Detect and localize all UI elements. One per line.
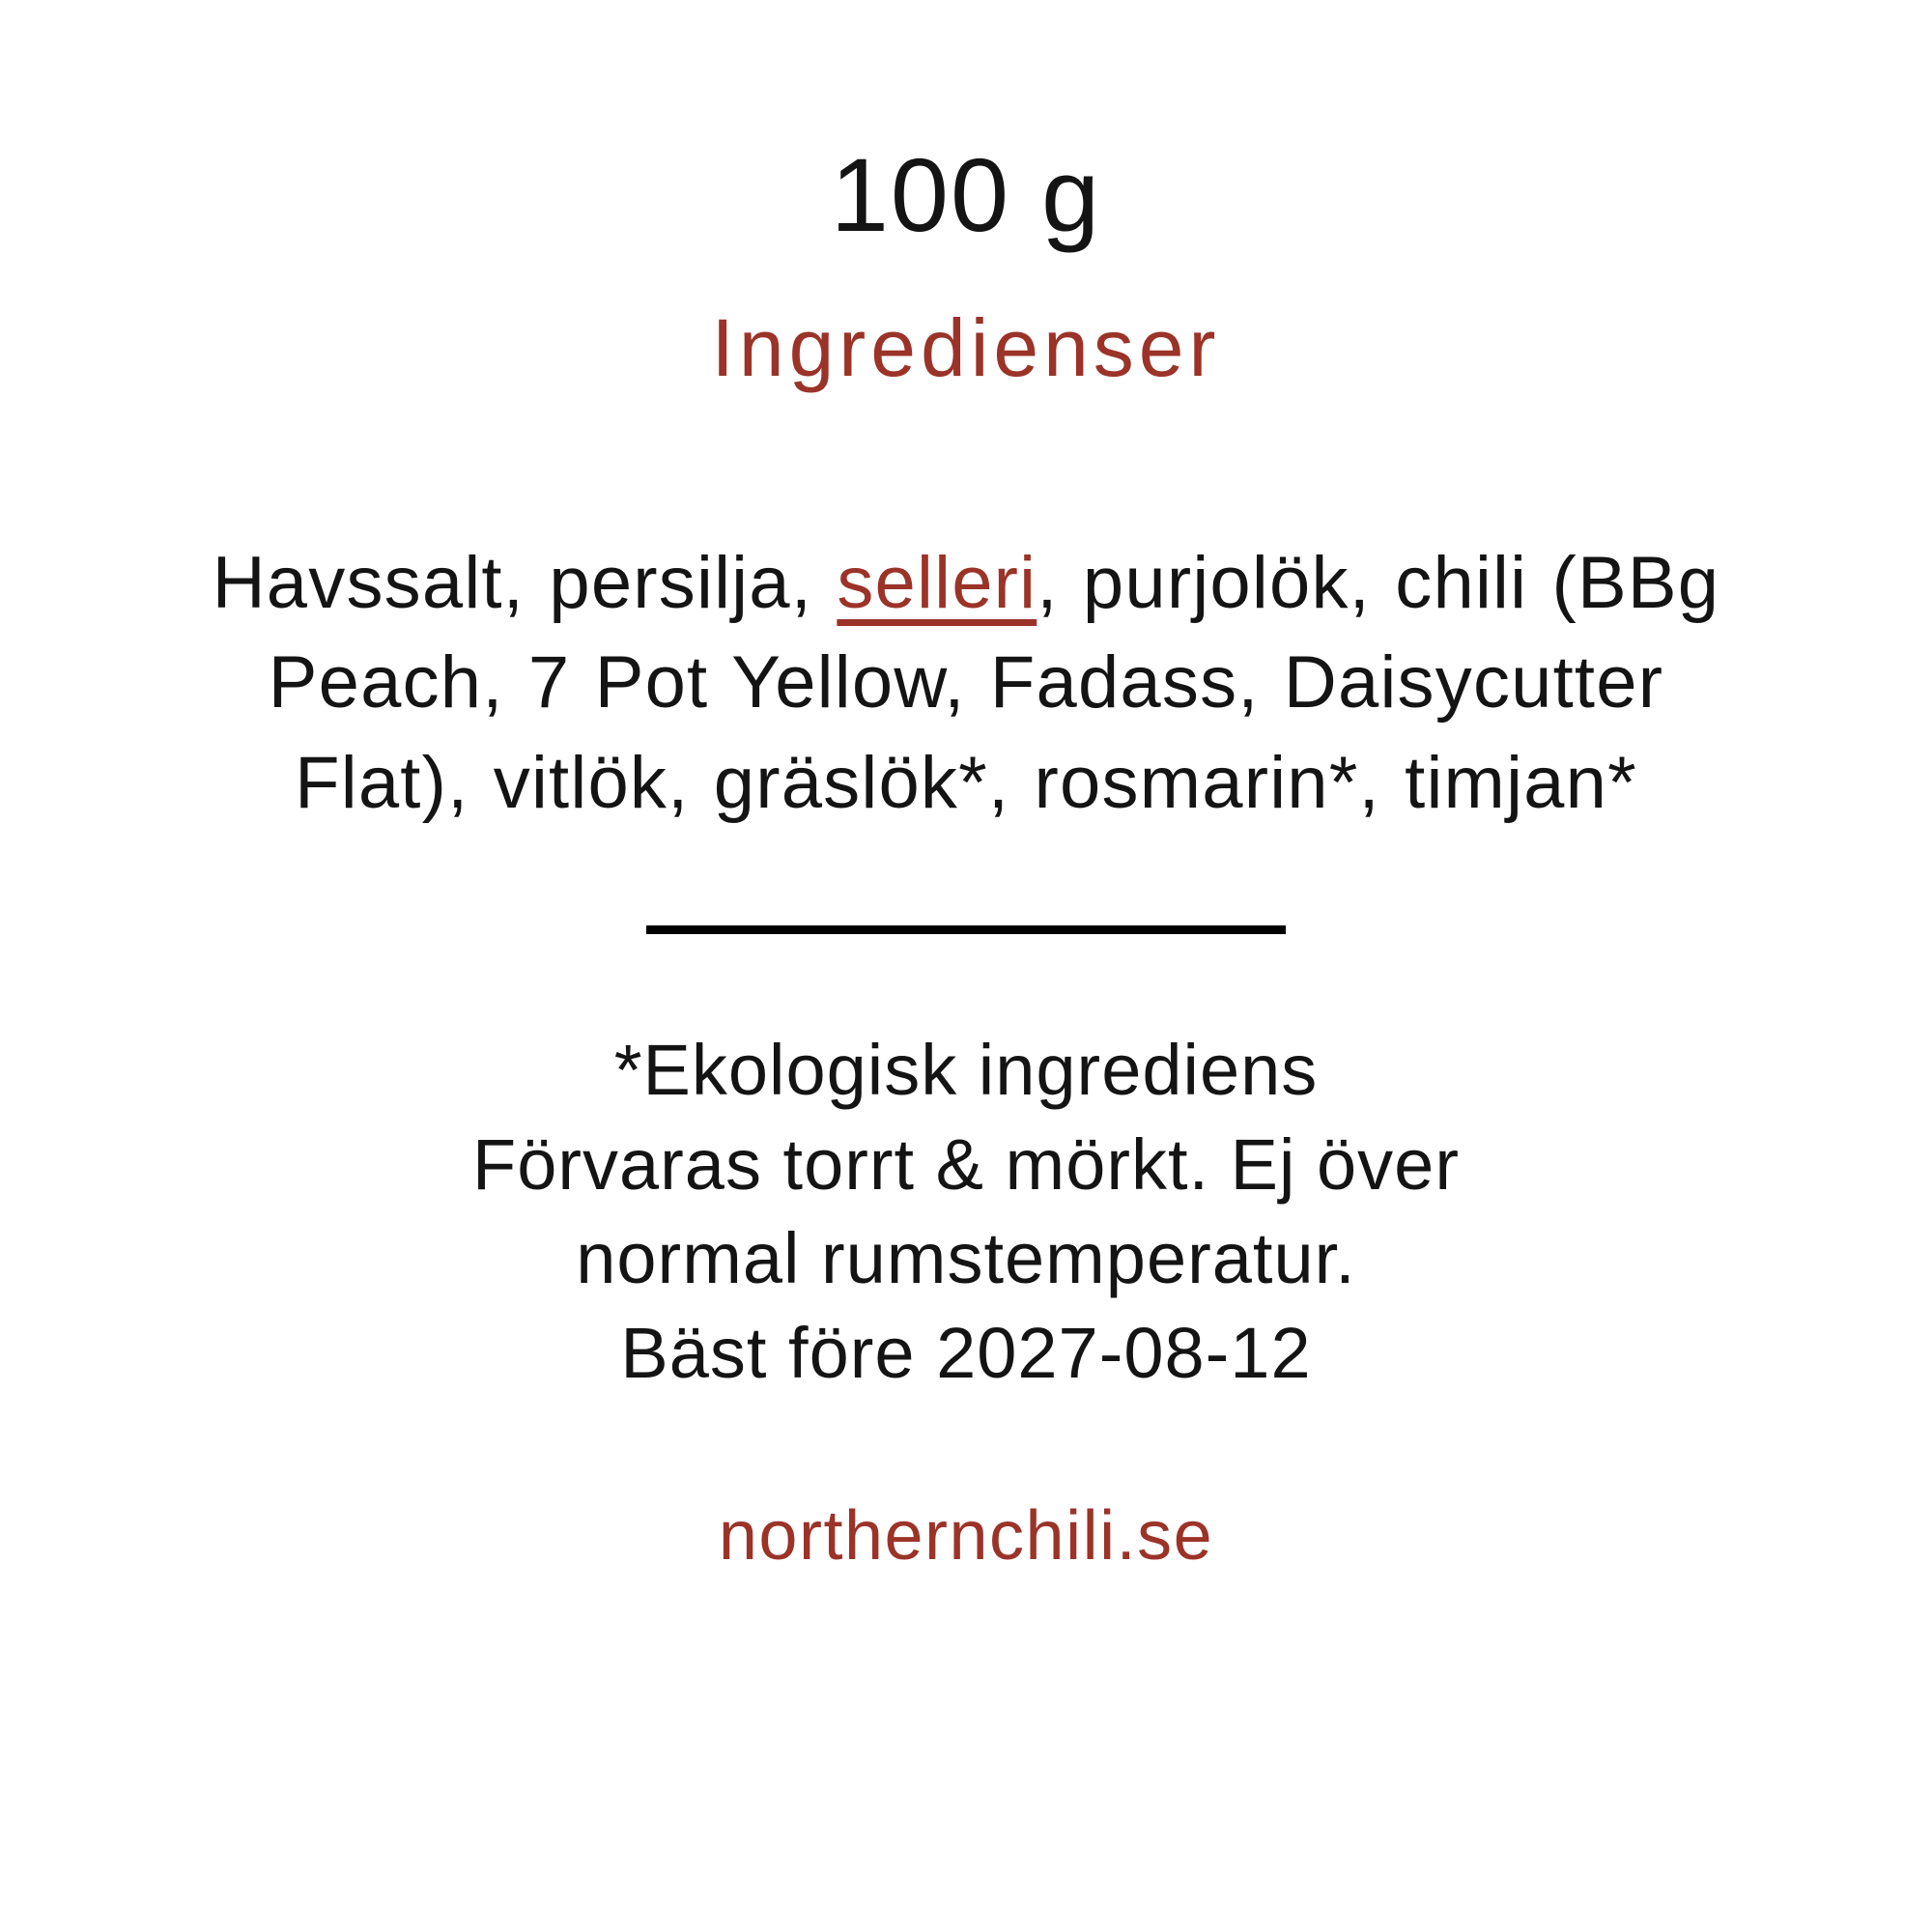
net-weight: 100 g [831, 143, 1101, 247]
section-heading-ingredients: Ingredienser [712, 307, 1221, 388]
organic-footnote: *Ekologisk ingrediens [266, 1023, 1666, 1118]
website-url[interactable]: northernchili.se [719, 1501, 1213, 1571]
storage-instruction-line-1: Förvaras torrt & mörkt. Ej över [266, 1118, 1666, 1212]
divider-container [0, 925, 1932, 934]
horizontal-divider [646, 925, 1286, 934]
ingredients-text-before-allergen: Havssalt, persilja, [213, 542, 838, 624]
storage-instruction-line-2: normal rumstemperatur. [266, 1211, 1666, 1306]
best-before-date: Bäst före 2027-08-12 [266, 1306, 1666, 1401]
ingredients-paragraph: Havssalt, persilja, selleri, purjolök, c… [184, 533, 1748, 833]
allergen-selleri: selleri [837, 542, 1037, 624]
product-label: 100 g Ingredienser Havssalt, persilja, s… [0, 0, 1932, 1932]
storage-info-block: *Ekologisk ingrediens Förvaras torrt & m… [266, 1023, 1666, 1401]
